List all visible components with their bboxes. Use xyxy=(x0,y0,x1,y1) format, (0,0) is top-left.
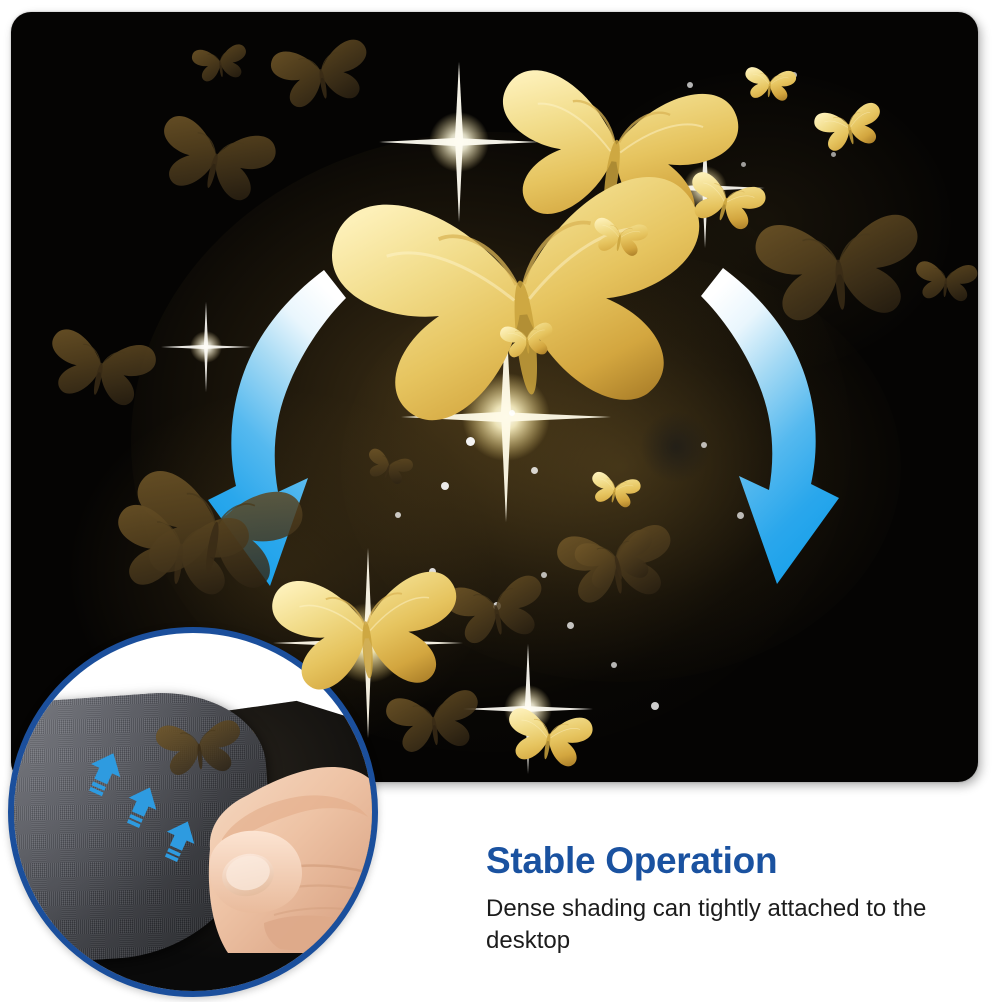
butterfly-icon xyxy=(908,245,978,315)
butterfly-icon xyxy=(31,301,171,432)
butterfly-icon xyxy=(805,85,893,167)
butterfly-icon xyxy=(255,525,478,729)
headline: Stable Operation xyxy=(486,842,956,881)
product-image: Stable Operation Dense shading can tight… xyxy=(0,0,1000,1002)
body-text: Dense shading can tightly attached to th… xyxy=(486,893,956,957)
butterfly-icon xyxy=(585,203,656,269)
butterfly-icon xyxy=(185,30,254,94)
butterfly-icon xyxy=(291,71,751,513)
butterfly-icon xyxy=(738,54,801,112)
feature-copy-block: Stable Operation Dense shading can tight… xyxy=(486,842,956,957)
butterfly-icon xyxy=(495,685,604,782)
butterfly-icon xyxy=(147,698,250,782)
butterfly-icon xyxy=(494,309,559,369)
